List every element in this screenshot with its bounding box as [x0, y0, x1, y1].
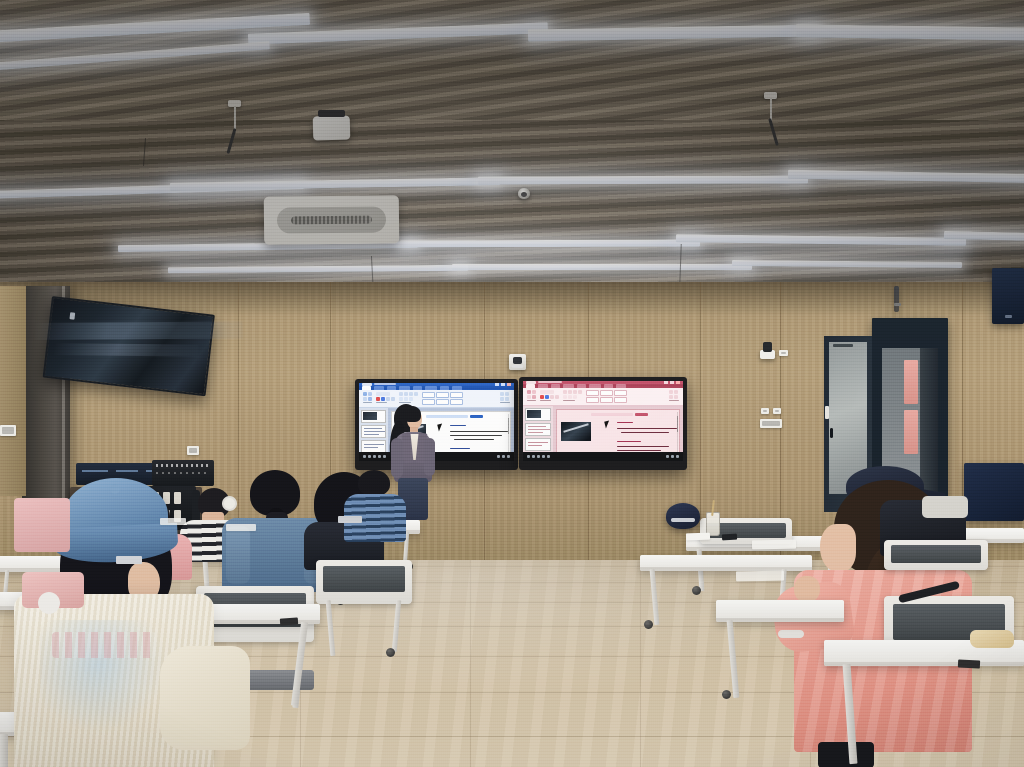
- jacket-on-chair: [922, 496, 968, 518]
- device-on-table: [338, 516, 362, 523]
- notebook-papers: [226, 524, 256, 531]
- cursor-arrow-icon: [605, 420, 612, 428]
- attendee-hair: [358, 470, 390, 496]
- attendee-blue-stripe-far: [344, 470, 406, 538]
- slide-title-field: [591, 413, 633, 416]
- wall-speaker: [992, 268, 1024, 324]
- helmet-visor: [671, 518, 695, 522]
- ribbon-group-font[interactable]: [376, 392, 395, 405]
- presentation-app-right: [523, 381, 683, 461]
- explorer-icon[interactable]: [542, 455, 545, 458]
- ribbon-group-paragraph[interactable]: [563, 390, 582, 403]
- slide-thumbnail[interactable]: [525, 438, 551, 451]
- notebook-papers: [160, 518, 186, 525]
- presenter-arm: [424, 438, 435, 476]
- table-caster: [722, 690, 731, 699]
- chair-back-pad: [891, 545, 981, 563]
- ribbon-group-editing[interactable]: [669, 390, 679, 403]
- taskbar-right[interactable]: [523, 452, 683, 461]
- cardigan-print-band: [52, 632, 156, 658]
- table-caster: [692, 586, 701, 595]
- power-outlet[interactable]: [779, 350, 788, 356]
- cardigan-sleeve: [160, 646, 250, 750]
- slide-thumbnail[interactable]: [525, 408, 551, 421]
- table-caster: [644, 620, 653, 629]
- camera-lens: [513, 357, 522, 364]
- tv-reflection: [55, 344, 199, 358]
- ceiling-shading: [0, 0, 1024, 300]
- wall-camera: [763, 342, 772, 352]
- ribbon-group-editing[interactable]: [500, 392, 510, 405]
- taskview-icon[interactable]: [373, 455, 376, 458]
- notebook-papers: [686, 533, 710, 541]
- snack-item: [970, 630, 1014, 648]
- power-outlet[interactable]: [761, 408, 769, 414]
- door-push-plate[interactable]: [825, 406, 829, 419]
- clock[interactable]: [507, 455, 510, 458]
- volume-icon[interactable]: [671, 455, 674, 458]
- classroom-photo: [0, 0, 1024, 767]
- slide-title-badge: [470, 415, 483, 418]
- start-icon[interactable]: [363, 455, 366, 458]
- folding-training-table: [716, 600, 844, 622]
- ceiling: [0, 0, 1024, 300]
- door-sign: [833, 344, 853, 347]
- power-outlet-double[interactable]: [760, 419, 782, 428]
- table-bracket: [280, 617, 298, 625]
- training-chair[interactable]: [884, 540, 988, 570]
- power-outlet[interactable]: [187, 446, 199, 455]
- display-right-screen[interactable]: [523, 381, 683, 461]
- slide-image: [561, 422, 591, 441]
- ribbon-group-clipboard[interactable]: [363, 392, 372, 405]
- ribbon-toolbar[interactable]: [523, 388, 683, 406]
- taskview-icon[interactable]: [537, 455, 540, 458]
- interactive-display-right[interactable]: [519, 377, 687, 470]
- ribbon-group-paragraph[interactable]: [399, 392, 418, 405]
- clock[interactable]: [676, 455, 679, 458]
- notebook-papers: [736, 571, 784, 582]
- app-filename: [374, 383, 396, 385]
- attendee-legs: [818, 742, 874, 767]
- motorcycle-helmet: [666, 503, 700, 529]
- handbag: [14, 498, 70, 552]
- attendee-face: [820, 524, 856, 572]
- chair-back-pad: [323, 566, 405, 592]
- notebook-papers: [752, 540, 796, 550]
- power-outlet[interactable]: [0, 425, 16, 436]
- table-leg: [0, 734, 8, 767]
- browser-icon[interactable]: [547, 455, 550, 458]
- chair-caster: [386, 648, 395, 657]
- corridor-panel: [904, 360, 918, 404]
- volume-icon[interactable]: [502, 455, 505, 458]
- ribbon-group-clipboard[interactable]: [527, 390, 536, 403]
- app-logo: [526, 381, 536, 384]
- app-filename: [538, 381, 562, 383]
- explorer-icon[interactable]: [378, 455, 381, 458]
- device-on-table: [116, 556, 142, 564]
- network-icon[interactable]: [666, 455, 669, 458]
- start-icon[interactable]: [527, 455, 530, 458]
- tv-reflection-spot: [69, 312, 75, 320]
- mobile-phone[interactable]: [722, 534, 737, 541]
- power-outlet[interactable]: [773, 408, 781, 414]
- wall-speaker-edge: [894, 286, 899, 312]
- cap-button: [110, 484, 120, 494]
- app-logo: [362, 383, 372, 386]
- wrist-watch: [778, 630, 804, 638]
- training-chair[interactable]: [316, 560, 412, 604]
- ribbon-group-styles[interactable]: [422, 392, 463, 405]
- corridor-panel: [904, 410, 918, 454]
- ribbon-group-styles[interactable]: [586, 390, 627, 403]
- bag-charm: [38, 592, 60, 614]
- ribbon-group-font[interactable]: [540, 390, 559, 403]
- wall-left-return: [0, 286, 26, 496]
- conference-camera: [509, 354, 526, 370]
- search-icon[interactable]: [368, 455, 371, 458]
- attendee-hand: [794, 576, 820, 602]
- search-icon[interactable]: [532, 455, 535, 458]
- tv-reflection: [35, 321, 243, 340]
- network-icon[interactable]: [497, 455, 500, 458]
- table-bracket: [958, 659, 980, 668]
- slide-thumbnail[interactable]: [525, 423, 551, 436]
- camera-base: [512, 365, 523, 368]
- slide-title-badge: [635, 413, 648, 416]
- door-handle[interactable]: [830, 428, 833, 438]
- presenter-hairline: [403, 406, 421, 422]
